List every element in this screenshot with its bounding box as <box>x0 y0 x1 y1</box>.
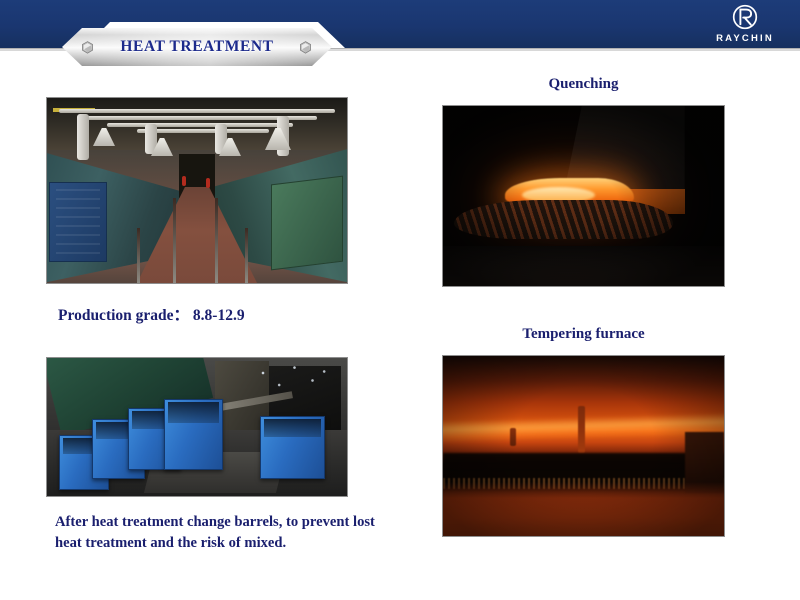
photo-production-line <box>46 97 348 284</box>
title-plate: HEAT TREATMENT <box>62 28 332 66</box>
photo-quenching <box>442 105 725 287</box>
label-quenching: Quenching <box>442 76 725 93</box>
caption-barrels: After heat treatment change barrels, to … <box>55 512 385 553</box>
label-tempering: Tempering furnace <box>442 326 725 343</box>
brand-logo: RAYCHIN <box>706 3 784 47</box>
photo-barrels <box>46 357 348 497</box>
photo-barrels-content <box>47 358 347 496</box>
slide-header: HEAT TREATMENT RAYCHIN <box>0 0 800 75</box>
photo-quenching-content <box>443 106 724 286</box>
circled-r-logo-icon <box>730 3 760 33</box>
photo-production-line-content <box>47 98 347 283</box>
page-title: HEAT TREATMENT <box>62 28 332 66</box>
photo-tempering-content <box>443 356 724 536</box>
caption-production-grade: Production grade： 8.8-12.9 <box>58 303 245 325</box>
photo-tempering <box>442 355 725 537</box>
brand-name: RAYCHIN <box>716 33 774 44</box>
